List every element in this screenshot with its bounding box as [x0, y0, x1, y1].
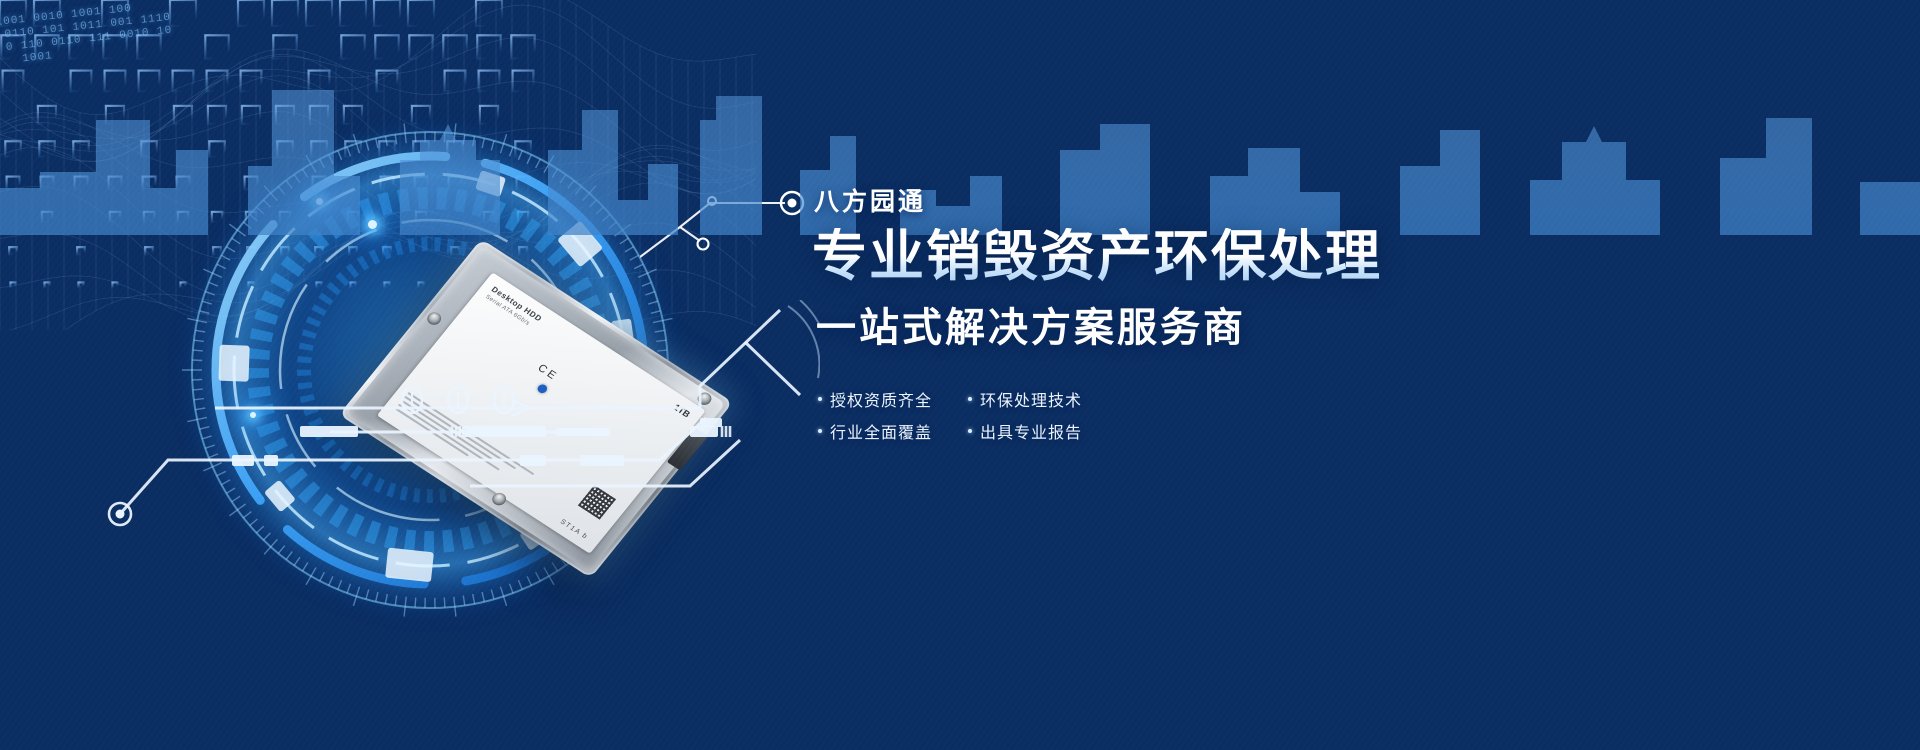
spark-node: [368, 220, 377, 229]
spark-node: [316, 198, 323, 205]
list-item-label: 行业全面覆盖: [830, 419, 932, 443]
bullet-dot-icon: [968, 429, 972, 433]
spark-node: [250, 412, 256, 418]
list-item-label: 环保处理技术: [980, 387, 1082, 411]
hud-ring-icon: Desktop HDD Serial ATA 6Gb/s 1TB CE ST1A…: [150, 90, 710, 650]
hdd-capacity-label: 1TB: [672, 402, 693, 419]
list-item: 授权资质齐全: [818, 383, 950, 415]
list-item: 环保处理技术: [968, 383, 1100, 415]
list-item: 行业全面覆盖: [818, 415, 950, 447]
hdd-label-dot: [536, 383, 549, 395]
list-item-label: 授权资质齐全: [830, 387, 932, 411]
banner-copy: 八方园通 专业销毁资产环保处理 一站式解决方案服务商 授权资质齐全 环保处理技术…: [812, 182, 1532, 447]
page-title: 专业销毁资产环保处理: [812, 228, 1532, 285]
bullet-dot-icon: [818, 397, 822, 401]
hdd-barcode-icon: [578, 485, 616, 519]
hero-banner: Desktop HDD Serial ATA 6Gb/s 1TB CE ST1A…: [0, 0, 1920, 750]
page-subtitle: 一站式解决方案服务商: [816, 295, 1532, 353]
brand-name: 八方园通: [814, 182, 1532, 218]
list-item: 出具专业报告: [968, 415, 1100, 447]
bullet-dot-icon: [818, 429, 822, 433]
hdd-cert-label: CE: [535, 362, 560, 383]
bullet-dot-icon: [968, 397, 972, 401]
list-item-label: 出具专业报告: [980, 419, 1082, 443]
feature-list: 授权资质齐全 环保处理技术 行业全面覆盖 出具专业报告: [818, 383, 1532, 447]
